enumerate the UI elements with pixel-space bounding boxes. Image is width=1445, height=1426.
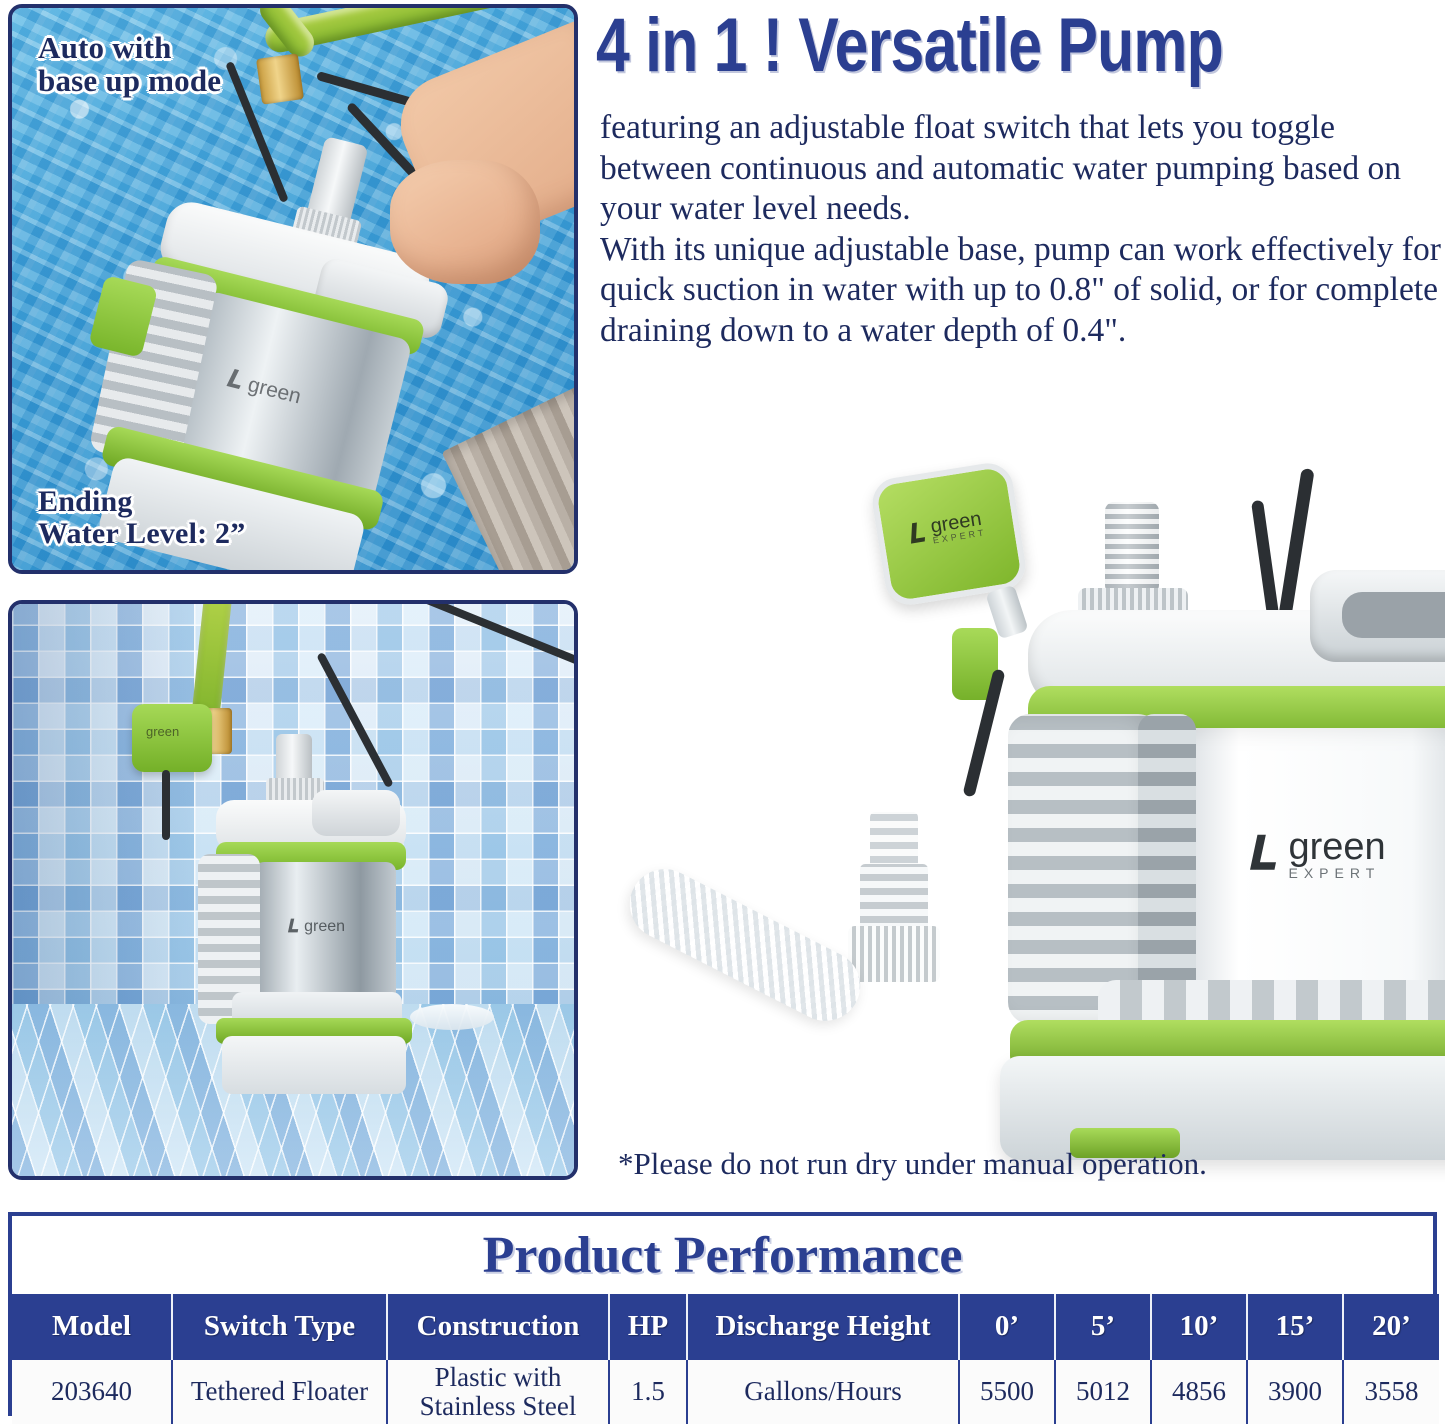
- brand-sub: EXPERT: [1288, 866, 1385, 880]
- adjustable-base: [1000, 1056, 1445, 1160]
- cell-flow-20ft: 3558: [1343, 1359, 1439, 1424]
- cell-flow-10ft: 4856: [1151, 1359, 1247, 1424]
- handle-grip-inset: [1342, 592, 1445, 638]
- brand-logo-photo2: 𝑳 green: [288, 916, 345, 937]
- brand-name: green: [1288, 828, 1385, 866]
- cell-flow-0ft: 5500: [959, 1359, 1055, 1424]
- table-title: Product Performance: [12, 1216, 1433, 1294]
- pump-unit-manual: 𝑳 green: [192, 734, 422, 1064]
- table-row: 203640 Tethered Floater Plastic with Sta…: [12, 1359, 1439, 1424]
- cell-model: 203640: [12, 1359, 172, 1424]
- header-height-20ft: 20’: [1343, 1294, 1439, 1359]
- hero-product-image: 𝑳 green EXPERT 𝑳: [600, 460, 1440, 1110]
- cell-hp: 1.5: [609, 1359, 687, 1424]
- hand: [390, 160, 540, 284]
- header-discharge-height: Discharge Height: [687, 1294, 959, 1359]
- header-model: Model: [12, 1294, 172, 1359]
- cell-switch-type: Tethered Floater: [172, 1359, 387, 1424]
- caption-auto-mode: Auto with base up mode: [38, 32, 221, 98]
- header-height-10ft: 10’: [1151, 1294, 1247, 1359]
- table-header-row: Model Switch Type Construction HP Discha…: [12, 1294, 1439, 1359]
- header-hp: HP: [609, 1294, 687, 1359]
- corrugated-intake-tube-back: [1138, 714, 1196, 1024]
- caption-auto-water-level: Ending Water Level: 2”: [38, 486, 245, 550]
- cell-flow-5ft: 5012: [1055, 1359, 1151, 1424]
- header-height-15ft: 15’: [1247, 1294, 1343, 1359]
- photo-auto-base-up: 𝑳 green Auto with base up mode Ending Wa…: [8, 4, 578, 574]
- body-description: featuring an adjustable float switch tha…: [600, 108, 1445, 351]
- page-title: 4 in 1 ! Versatile Pump: [596, 6, 1272, 88]
- cell-flow-15ft: 3900: [1247, 1359, 1343, 1424]
- cell-discharge-units: Gallons/Hours: [687, 1359, 959, 1424]
- adapter-step-large: [860, 864, 928, 930]
- header-height-5ft: 5’: [1055, 1294, 1151, 1359]
- brass-hose-fitting: [256, 53, 304, 104]
- discharge-outlet: [1105, 502, 1159, 594]
- product-performance-table: Product Performance Model Switch Type Co…: [8, 1212, 1437, 1416]
- hose-adapter: [848, 812, 940, 992]
- infographic-root: 𝑳 green Auto with base up mode Ending Wa…: [0, 0, 1445, 1426]
- brand-logo-hero: 𝑳 green EXPERT: [1250, 828, 1386, 880]
- float-switch-cable: [162, 770, 170, 840]
- adapter-step-small: [870, 812, 918, 870]
- float-switch: 𝑳 green EXPERT: [869, 460, 1029, 609]
- float-switch-logo: green: [146, 724, 179, 739]
- mesh-filter-sleeve: [618, 857, 873, 1033]
- header-switch-type: Switch Type: [172, 1294, 387, 1359]
- cell-construction: Plastic with Stainless Steel: [387, 1359, 609, 1424]
- photo-manual-base-down: green 𝑳 green Manual with base down mode: [8, 600, 578, 1180]
- corner-shadow: [12, 604, 203, 1016]
- adjustable-base: [222, 1036, 406, 1094]
- carry-handle: [312, 790, 400, 836]
- floor-drain-cap: [410, 1004, 494, 1030]
- performance-data-table: Model Switch Type Construction HP Discha…: [12, 1294, 1439, 1424]
- adapter-nut: [848, 926, 940, 982]
- brand-name: green: [304, 918, 345, 936]
- header-height-0ft: 0’: [959, 1294, 1055, 1359]
- header-construction: Construction: [387, 1294, 609, 1359]
- disclaimer-note: *Please do not run dry under manual oper…: [618, 1146, 1418, 1182]
